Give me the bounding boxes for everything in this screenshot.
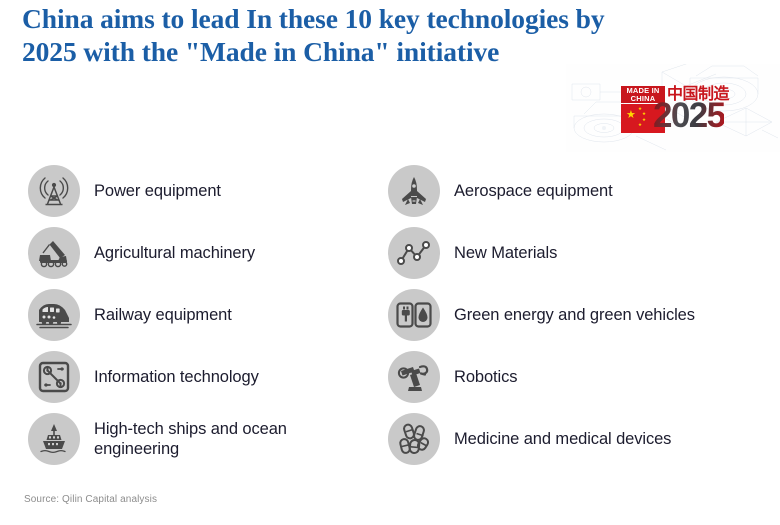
list-item-power-equipment[interactable]: Power equipment [28,160,378,222]
ship-icon [28,413,80,465]
page-title-line-1: China aims to lead In these 10 key techn… [22,2,742,35]
flag-star-small-2: ★ [642,112,646,117]
technology-column-left: Power equipment [28,160,378,470]
list-item-label: Railway equipment [94,305,232,325]
list-item-new-materials[interactable]: New Materials [388,222,780,284]
pills-icon [388,413,440,465]
source-note: Source: Qilin Capital analysis [24,494,157,505]
page-title: China aims to lead In these 10 key techn… [22,2,742,68]
list-item-high-tech-ships[interactable]: High-tech ships and ocean engineering [28,408,378,470]
flag-star-small-4: ★ [638,123,642,128]
list-item-railway-equipment[interactable]: Railway equipment [28,284,378,346]
radio-tower-icon [28,165,80,217]
logo-lockup: MADE IN CHINA 中国制造 ★ ★ ★ ★ ★ 2025 [621,86,741,134]
circuit-chip-icon [28,351,80,403]
list-item-robotics[interactable]: Robotics [388,346,780,408]
molecule-icon [388,227,440,279]
list-item-label: Agricultural machinery [94,243,255,263]
list-item-label: New Materials [454,243,557,263]
logo-year-text: 2025 [653,98,724,133]
list-item-information-technology[interactable]: Information technology [28,346,378,408]
list-item-green-energy[interactable]: Green energy and green vehicles [388,284,780,346]
plug-droplet-icon [388,289,440,341]
rocket-icon [388,165,440,217]
list-item-label: Medicine and medical devices [454,429,671,449]
excavator-icon [28,227,80,279]
technology-column-right: Aerospace equipment New Materials [388,160,780,470]
list-item-label: Information technology [94,367,259,387]
train-icon [28,289,80,341]
list-item-label: Aerospace equipment [454,181,613,201]
flag-star-large: ★ [626,110,636,121]
list-item-label: Power equipment [94,181,221,201]
list-item-label-multiline: High-tech ships and ocean engineering [94,420,287,458]
flag-star-small-3: ★ [642,118,646,123]
list-item-aerospace-equipment[interactable]: Aerospace equipment [388,160,780,222]
list-item-medicine[interactable]: Medicine and medical devices [388,408,780,470]
list-item-label: Robotics [454,367,517,387]
list-item-label: Green energy and green vehicles [454,305,695,325]
list-item-label: High-tech ships and ocean engineering [94,419,287,459]
list-item-agricultural-machinery[interactable]: Agricultural machinery [28,222,378,284]
made-in-china-2025-logo-image: MADE IN CHINA 中国制造 ★ ★ ★ ★ ★ 2025 [566,64,780,152]
robot-arm-icon [388,351,440,403]
